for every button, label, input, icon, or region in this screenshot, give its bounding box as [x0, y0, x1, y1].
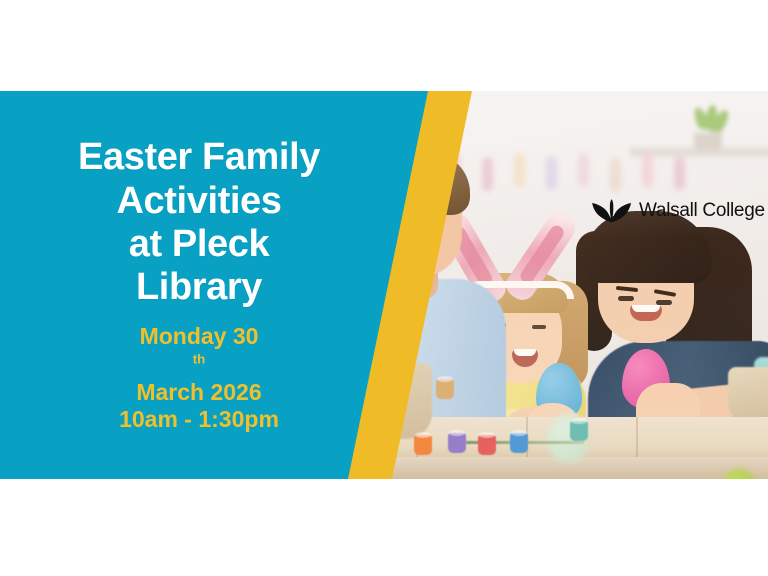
event-date-ordinal: th [193, 351, 206, 366]
pot-tan [436, 379, 454, 399]
pot-purple [448, 433, 466, 453]
pot-blue [510, 433, 528, 453]
event-time: 10am - 1:30pm [119, 406, 279, 434]
walsall-college-logo[interactable]: Walsall College [591, 199, 765, 223]
headline-line-1: Easter Family [78, 136, 320, 179]
basket-right [728, 367, 768, 423]
headline-line-2: Activities [78, 180, 320, 223]
pastel-garland [450, 153, 700, 193]
headline-line-4: Library [78, 266, 320, 309]
headline-line-3: at Pleck [78, 223, 320, 266]
girl-teeth [514, 349, 536, 356]
text-block: Easter Family Activities at Pleck Librar… [14, 91, 384, 479]
woman-eye-left [618, 296, 634, 301]
event-date-prefix: Monday 30 [119, 323, 279, 351]
page-title: Easter Family Activities at Pleck Librar… [78, 136, 320, 309]
logo-wordmark: Walsall College [639, 200, 765, 222]
event-banner: Easter Family Activities at Pleck Librar… [0, 91, 768, 479]
wings-icon [591, 199, 633, 223]
poster-canvas: Easter Family Activities at Pleck Librar… [0, 0, 768, 576]
pot-teal [570, 421, 588, 441]
girl-eye-right [532, 325, 546, 329]
background-plant [682, 105, 734, 151]
pot-red [478, 435, 496, 455]
woman-teeth [632, 305, 660, 312]
pot-orange [414, 435, 432, 455]
event-datetime: Monday 30th March 2026 10am - 1:30pm [119, 323, 279, 433]
event-date-suffix: March 2026 [119, 379, 279, 407]
event-date: Monday 30th March 2026 [119, 323, 279, 406]
